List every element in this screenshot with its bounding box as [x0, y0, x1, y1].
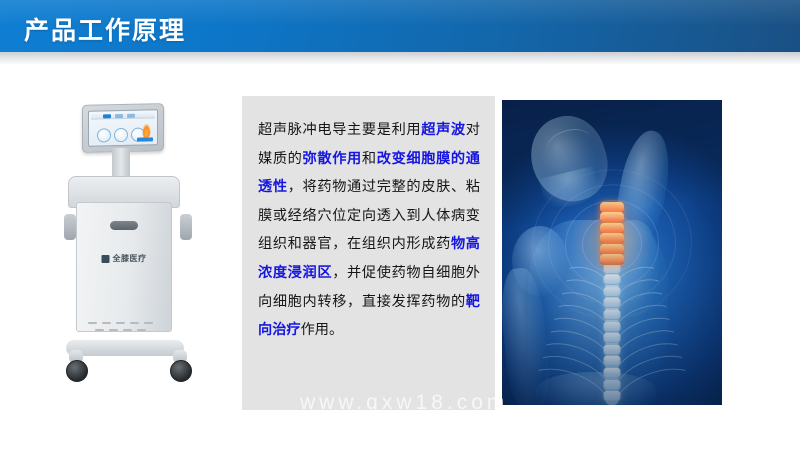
page-header: 产品工作原理	[0, 0, 800, 52]
body-text-run: 和	[362, 151, 377, 167]
body-text-run: 超声脉冲电导主要是利用	[258, 122, 421, 138]
device-brand-logo: 全膝医疗	[102, 253, 147, 264]
screen-tab-3	[127, 113, 135, 117]
device-vent-slots	[86, 322, 162, 338]
device-caster-left	[66, 350, 86, 380]
header-drop-shadow	[0, 52, 800, 65]
screen-dial-2	[114, 128, 128, 142]
description-paragraph: 超声脉冲电导主要是利用超声波对媒质的弥散作用和改变细胞膜的通透性，将药物通过完整…	[258, 116, 480, 345]
flame-icon	[142, 123, 151, 137]
brand-mark-icon	[102, 255, 110, 263]
anatomy-image	[502, 100, 722, 405]
highlight-phrase: 超声波	[421, 122, 466, 138]
device-main-body: 全膝医疗	[76, 202, 172, 332]
screen-top-bar	[91, 112, 155, 119]
device-screen-bezel	[82, 103, 164, 153]
device-illustration: 全膝医疗	[40, 88, 220, 408]
device-touchscreen[interactable]	[88, 109, 158, 146]
highlight-phrase: 弥散作用	[303, 151, 362, 167]
screen-dial-1	[97, 128, 111, 142]
device-handle	[110, 221, 138, 230]
page-title: 产品工作原理	[24, 11, 186, 47]
device-side-grip-right	[180, 214, 192, 240]
screen-tab-1	[103, 114, 111, 118]
screen-action-button	[137, 137, 153, 141]
body-text-run: ，将药物通过完整的皮肤、粘膜或经络穴位定向透入到人体病变组织和器官，在组织内形成…	[258, 179, 480, 252]
body-text-run: 作用。	[301, 322, 344, 338]
anatomy-vignette	[502, 100, 722, 405]
device-side-grip-left	[64, 214, 76, 240]
brand-name-text: 全膝医疗	[113, 253, 147, 264]
device-caster-right	[170, 350, 190, 380]
description-panel: 超声脉冲电导主要是利用超声波对媒质的弥散作用和改变细胞膜的通透性，将药物通过完整…	[242, 96, 495, 410]
screen-tab-2	[115, 114, 123, 118]
